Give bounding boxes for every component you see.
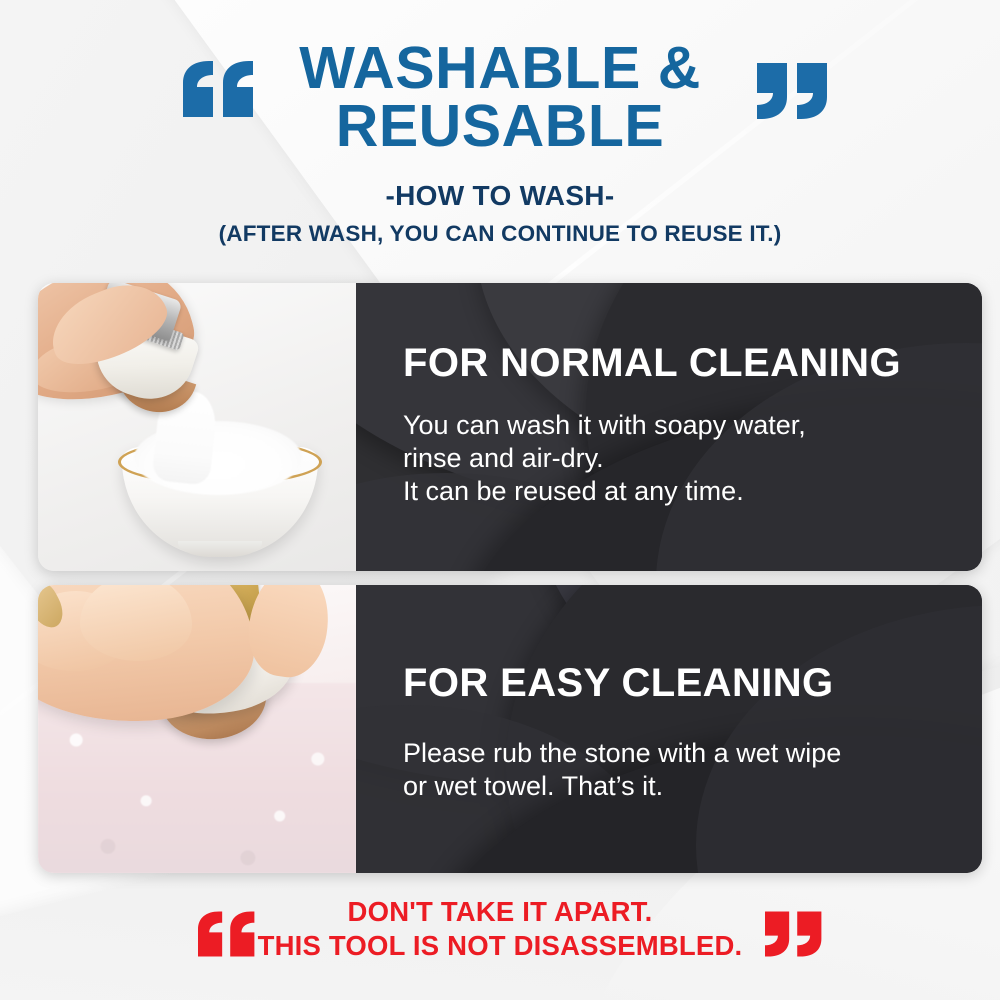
panel-content: FOR EASY CLEANING Please rub the stone w…	[356, 585, 982, 803]
title-line-1: WASHABLE &	[299, 40, 701, 98]
title-line-2: REUSABLE	[299, 98, 701, 156]
quote-close-icon	[765, 911, 823, 957]
page-title: WASHABLE & REUSABLE	[0, 0, 1000, 156]
subtitle-how-to-wash: -HOW TO WASH-	[0, 180, 1000, 212]
card-heading: FOR NORMAL CLEANING	[403, 343, 982, 383]
header: WASHABLE & REUSABLE -HOW TO WASH- (AFTER…	[0, 0, 1000, 247]
instruction-card-normal-cleaning: FOR NORMAL CLEANING You can wash it with…	[38, 283, 982, 571]
card-heading: FOR EASY CLEANING	[403, 663, 982, 703]
photo-easy-cleaning	[38, 585, 356, 873]
bowl-foot	[178, 541, 262, 557]
warning-line-2: THIS TOOL IS NOT DISASSEMBLED.	[0, 929, 1000, 963]
card-body-text: You can wash it with soapy water, rinse …	[403, 409, 982, 508]
knuckle-shape-2	[80, 585, 192, 661]
text-panel-easy-cleaning: FOR EASY CLEANING Please rub the stone w…	[356, 585, 982, 873]
photo-normal-cleaning	[38, 283, 356, 571]
text-panel-normal-cleaning: FOR NORMAL CLEANING You can wash it with…	[356, 283, 982, 571]
subtitle-after-wash-note: (AFTER WASH, YOU CAN CONTINUE TO REUSE I…	[0, 221, 1000, 247]
footer-warning: DON'T TAKE IT APART. THIS TOOL IS NOT DI…	[0, 895, 1000, 963]
instruction-card-easy-cleaning: FOR EASY CLEANING Please rub the stone w…	[38, 585, 982, 873]
panel-content: FOR NORMAL CLEANING You can wash it with…	[356, 283, 982, 508]
card-body-text: Please rub the stone with a wet wipe or …	[403, 737, 982, 803]
warning-line-1: DON'T TAKE IT APART.	[0, 895, 1000, 929]
quote-open-icon	[198, 911, 256, 957]
